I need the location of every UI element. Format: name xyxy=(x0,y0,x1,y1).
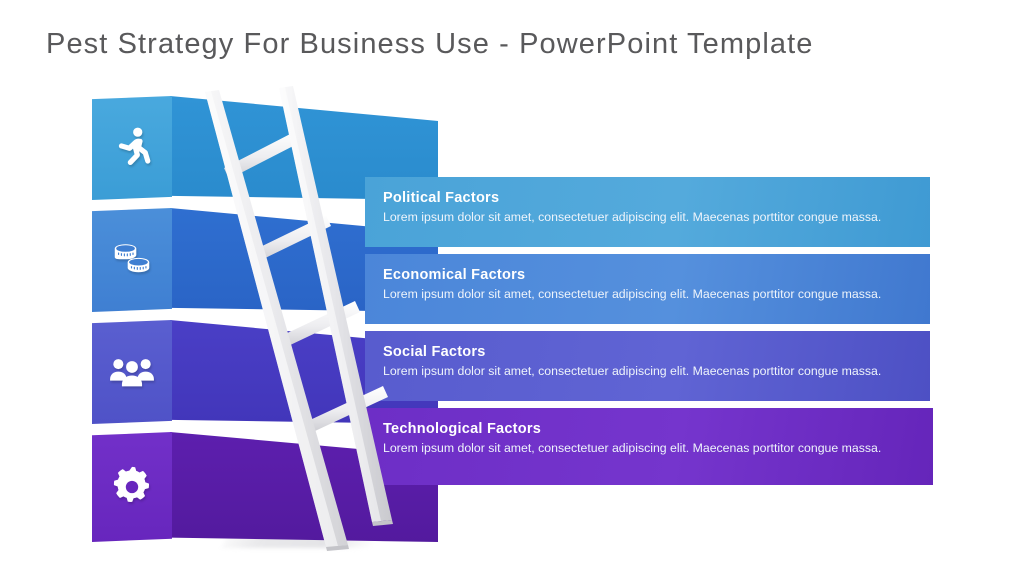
people-group-icon xyxy=(109,349,155,395)
heading-technological: Technological Factors xyxy=(383,421,915,437)
description-political: Lorem ipsum dolor sit amet, consectetuer… xyxy=(383,209,883,226)
heading-political: Political Factors xyxy=(383,190,912,206)
heading-economical: Economical Factors xyxy=(383,267,912,283)
slide-canvas: Pest Strategy For Business Use - PowerPo… xyxy=(0,0,1024,576)
description-technological: Lorem ipsum dolor sit amet, consectetuer… xyxy=(383,440,883,457)
block-social-face xyxy=(92,320,172,424)
description-economical: Lorem ipsum dolor sit amet, consectetuer… xyxy=(383,286,883,303)
description-social: Lorem ipsum dolor sit amet, consectetuer… xyxy=(383,363,883,380)
pest-diagram: Political Factors Lorem ipsum dolor sit … xyxy=(0,0,1024,576)
coins-stack-icon xyxy=(109,237,155,283)
heading-social: Social Factors xyxy=(383,344,912,360)
block-technological-face xyxy=(92,432,172,542)
running-man-icon xyxy=(109,125,155,171)
text-bar-economical[interactable]: Economical Factors Lorem ipsum dolor sit… xyxy=(365,254,930,324)
block-economical-face xyxy=(92,208,172,312)
text-bar-social[interactable]: Social Factors Lorem ipsum dolor sit ame… xyxy=(365,331,930,401)
block-political-face xyxy=(92,96,172,200)
text-bar-political[interactable]: Political Factors Lorem ipsum dolor sit … xyxy=(365,177,930,247)
text-bar-technological[interactable]: Technological Factors Lorem ipsum dolor … xyxy=(365,408,933,485)
gear-icon xyxy=(109,464,155,510)
